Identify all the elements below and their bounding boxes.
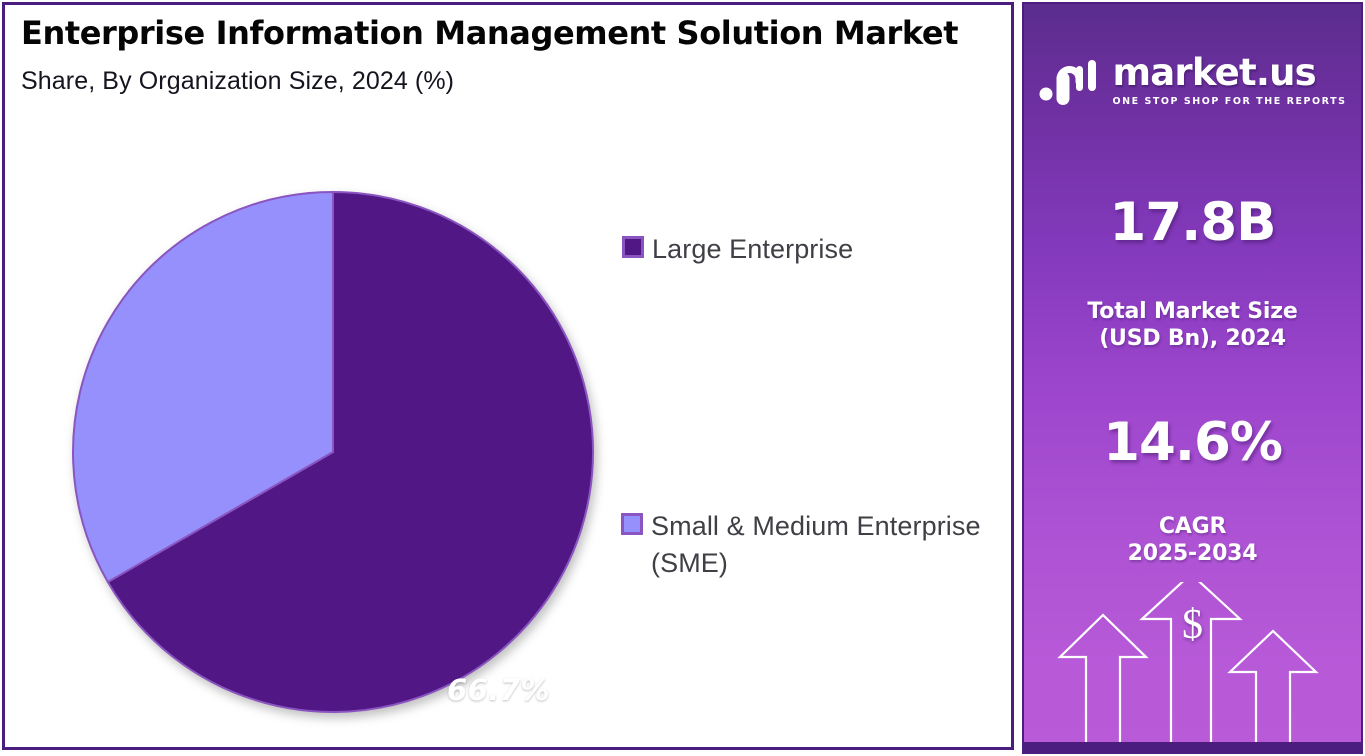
legend-swatch-icon bbox=[622, 236, 644, 258]
logo-text: market.us ONE STOP SHOP FOR THE REPORTS bbox=[1112, 54, 1346, 107]
legend-swatch-icon bbox=[621, 513, 643, 535]
legend-item-label: Small & Medium Enterprise (SME) bbox=[651, 508, 1001, 583]
chart-infographic: Enterprise Information Management Soluti… bbox=[0, 0, 1365, 756]
panel-bottom-strip bbox=[1024, 742, 1361, 752]
stats-panel: market.us ONE STOP SHOP FOR THE REPORTS … bbox=[1022, 2, 1363, 754]
logo-wordmark: market.us bbox=[1112, 54, 1315, 91]
stat-market-size-caption: Total Market Size (USD Bn), 2024 bbox=[1024, 299, 1361, 353]
growth-arrows-icon bbox=[1024, 582, 1363, 742]
pie-slice-label-large-enterprise: 66.7% bbox=[447, 673, 550, 707]
title-block: Enterprise Information Management Soluti… bbox=[21, 13, 981, 96]
stat-caption-line: Total Market Size bbox=[1024, 299, 1361, 326]
legend-item-label: Large Enterprise bbox=[652, 231, 853, 268]
pie-chart-svg bbox=[69, 188, 597, 716]
market-us-logo-icon bbox=[1038, 52, 1100, 108]
pie-chart: 66.7% bbox=[69, 188, 597, 716]
stat-caption-line: 2025-2034 bbox=[1024, 541, 1361, 568]
stat-cagr-value: 14.6% bbox=[1024, 412, 1361, 473]
page-title: Enterprise Information Management Soluti… bbox=[21, 13, 981, 53]
stat-caption-line: (USD Bn), 2024 bbox=[1024, 326, 1361, 353]
stat-cagr-caption: CAGR 2025-2034 bbox=[1024, 514, 1361, 568]
legend-item-sme[interactable]: Small & Medium Enterprise (SME) bbox=[621, 508, 1011, 583]
chart-card: Enterprise Information Management Soluti… bbox=[2, 2, 1014, 750]
stat-market-size-value: 17.8B bbox=[1024, 192, 1361, 253]
stat-caption-line: CAGR bbox=[1024, 514, 1361, 541]
logo-tagline: ONE STOP SHOP FOR THE REPORTS bbox=[1112, 96, 1346, 107]
legend-item-large-enterprise[interactable]: Large Enterprise bbox=[622, 231, 853, 268]
brand-logo: market.us ONE STOP SHOP FOR THE REPORTS bbox=[1024, 52, 1361, 108]
chart-subtitle: Share, By Organization Size, 2024 (%) bbox=[21, 67, 981, 96]
